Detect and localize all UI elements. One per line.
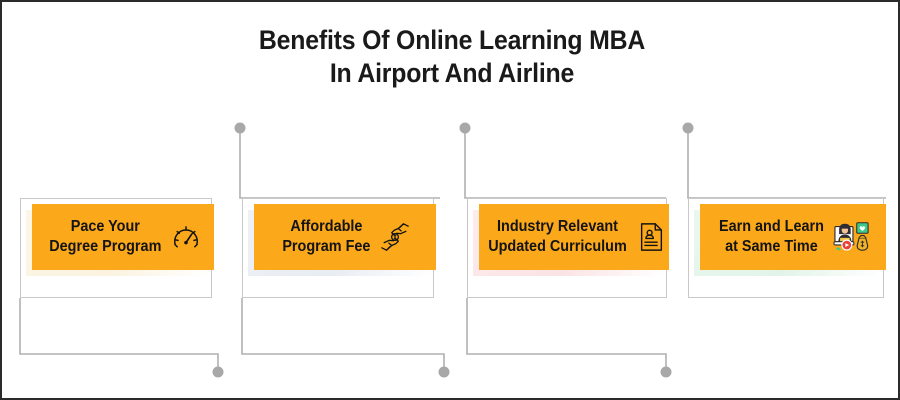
online-learning-earnings-icon xyxy=(833,219,871,255)
hands-exchanging-money-icon xyxy=(379,221,411,253)
card-label: Earn and Learn at Same Time xyxy=(715,217,828,257)
card-content-box: Industry Relevant Updated Curriculum xyxy=(479,204,669,270)
connector-dot-bottom-3 xyxy=(661,367,672,378)
benefit-card-pace-your-degree-program[interactable]: Pace Your Degree Program xyxy=(20,198,212,298)
card-label-line-2: Degree Program xyxy=(49,237,161,257)
card-label-line-2: Program Fee xyxy=(282,237,370,257)
connector-dot-bottom-2 xyxy=(439,367,450,378)
infographic-container: Benefits Of Online Learning MBA In Airpo… xyxy=(0,0,900,400)
speedometer-icon xyxy=(171,222,201,252)
connector-path-card-3-bottom xyxy=(467,298,666,370)
connector-path-card-1 xyxy=(20,298,218,370)
card-content-box: Pace Your Degree Program xyxy=(32,204,214,270)
connector-dot-top-1 xyxy=(235,123,246,134)
card-label-line-1: Earn and Learn xyxy=(719,217,824,237)
title-line-1: Benefits Of Online Learning MBA xyxy=(38,24,866,57)
card-label-line-1: Affordable xyxy=(282,217,370,237)
card-label-line-2: Updated Curriculum xyxy=(488,237,627,257)
title-line-2: In Airport And Airline xyxy=(38,57,866,90)
page-title: Benefits Of Online Learning MBA In Airpo… xyxy=(2,24,900,90)
card-label: Pace Your Degree Program xyxy=(45,217,166,257)
card-label-line-1: Pace Your xyxy=(49,217,161,237)
card-content-box: Earn and Learn at Same Time xyxy=(700,204,886,270)
connector-path-card-2-top xyxy=(240,130,440,198)
card-label-line-1: Industry Relevant xyxy=(488,217,627,237)
connector-dot-top-2 xyxy=(460,123,471,134)
connector-path-card-4-top xyxy=(688,130,886,198)
card-label: Affordable Program Fee xyxy=(279,217,374,257)
card-label-line-2: at Same Time xyxy=(719,237,824,257)
card-content-box: Affordable Program Fee xyxy=(254,204,436,270)
connector-dot-top-3 xyxy=(683,123,694,134)
benefit-card-industry-relevant-updated-curriculum[interactable]: Industry Relevant Updated Curriculum xyxy=(467,198,667,298)
resume-document-icon xyxy=(638,222,665,252)
benefit-card-earn-and-learn-at-same-time[interactable]: Earn and Learn at Same Time xyxy=(688,198,884,298)
card-label: Industry Relevant Updated Curriculum xyxy=(483,217,632,257)
connector-dot-bottom-1 xyxy=(213,367,224,378)
connector-path-card-2-bottom xyxy=(242,298,444,370)
connector-path-card-3-top xyxy=(465,130,666,198)
benefit-card-affordable-program-fee[interactable]: Affordable Program Fee xyxy=(242,198,434,298)
